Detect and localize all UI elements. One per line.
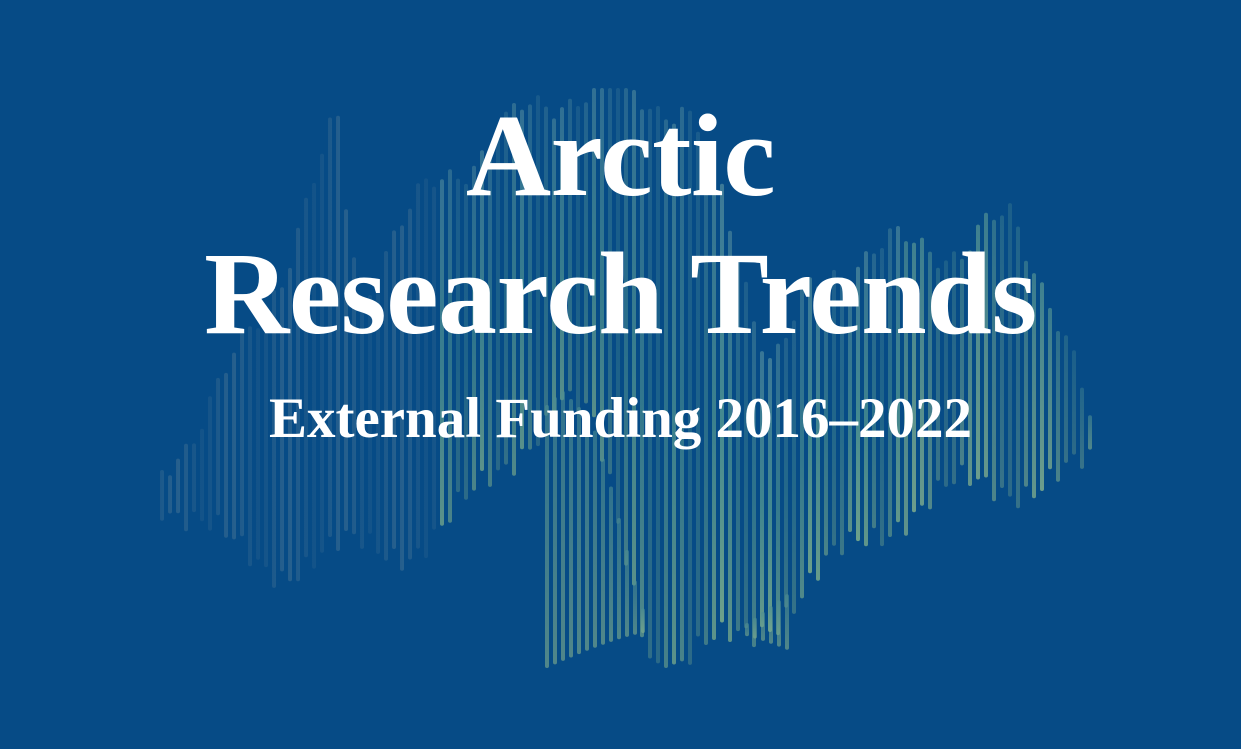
page-title-line-2: Research Trends <box>204 234 1037 354</box>
page-title-line-1: Arctic <box>466 96 775 216</box>
title-block: Arctic Research Trends External Funding … <box>0 0 1241 749</box>
page-subtitle: External Funding 2016–2022 <box>269 389 972 449</box>
poster-canvas: Arctic Research Trends External Funding … <box>0 0 1241 749</box>
